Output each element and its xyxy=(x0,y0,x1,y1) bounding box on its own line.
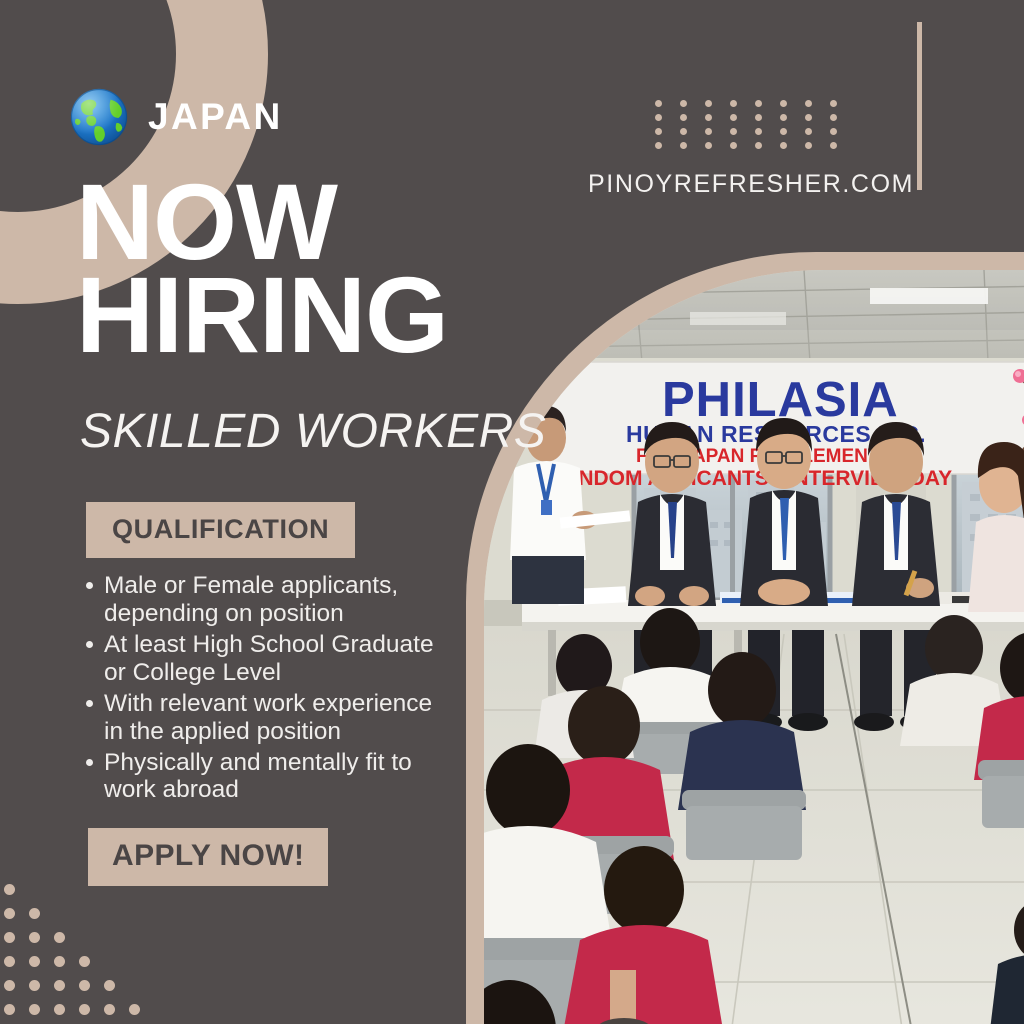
qualification-badge: QUALIFICATION xyxy=(86,502,355,558)
list-item: At least High School Graduate or College… xyxy=(104,631,450,687)
country-header: JAPAN xyxy=(68,86,283,148)
ring-corner-mask xyxy=(0,0,60,90)
dot-grid-decoration xyxy=(655,100,855,156)
triangle-dot-decoration xyxy=(4,884,204,1024)
headline-line-2: HIRING xyxy=(76,269,448,362)
list-item: Physically and mentally fit to work abro… xyxy=(104,749,450,805)
qualification-list: Male or Female applicants, depending on … xyxy=(78,572,450,807)
website-url: PINOYREFRESHER.COM xyxy=(588,170,914,199)
list-item: Male or Female applicants, depending on … xyxy=(104,572,450,628)
apply-now-button[interactable]: APPLY NOW! xyxy=(88,828,328,886)
now-hiring-poster: PHILASIA HUMAN RESOURCES INC. FOR JAPAN … xyxy=(0,0,1024,1024)
country-label: JAPAN xyxy=(148,96,283,138)
earth-globe-americas-icon xyxy=(68,86,130,148)
vertical-accent-rule xyxy=(917,22,922,190)
headline-subtitle: SKILLED WORKERS xyxy=(80,404,546,459)
interview-photo: PHILASIA HUMAN RESOURCES INC. FOR JAPAN … xyxy=(466,252,1024,1024)
page-title: NOW HIRING xyxy=(76,176,448,362)
list-item: With relevant work experience in the app… xyxy=(104,690,450,746)
